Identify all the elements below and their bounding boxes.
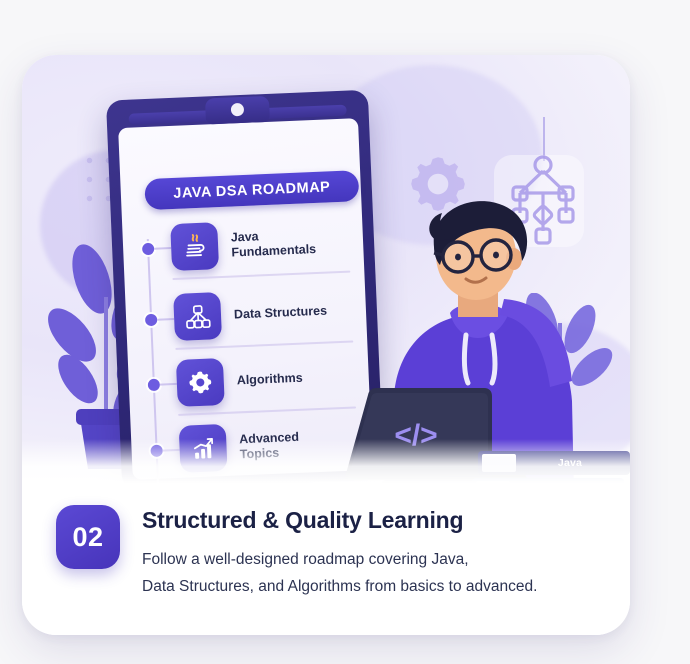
timeline-connector [157,318,174,321]
timeline-dot [148,379,160,391]
roadmap-step-label: Data Structures [234,304,328,323]
roadmap-step-java-fundamentals[interactable]: Java Fundamentals [170,218,328,271]
page-title: Structured & Quality Learning [142,507,537,534]
feature-text-panel: 02 Structured & Quality Learning Follow … [22,483,630,635]
panel-copy: Structured & Quality Learning Follow a w… [142,505,537,635]
timeline-connector [160,383,177,386]
illustration-fade [22,439,630,483]
illustration-region: JAVA DSA ROADMAP [22,55,630,483]
step-divider [172,271,350,280]
feature-card: JAVA DSA ROADMAP [22,55,630,635]
step-number-badge: 02 [56,505,120,569]
roadmap-step-algorithms[interactable]: Algorithms [176,355,304,407]
clipboard-clip [205,96,270,125]
step-divider [175,341,353,350]
description-line-2: Data Structures, and Algorithms from bas… [142,578,537,595]
gear-icon [176,358,225,407]
timeline-connector [154,247,171,250]
timeline-dot [145,314,157,326]
java-cup-icon [170,222,219,271]
roadmap-title-badge: JAVA DSA ROADMAP [144,170,359,210]
panel-description: Follow a well-designed roadmap covering … [142,546,537,600]
roadmap-step-label: Algorithms [236,371,303,389]
roadmap-step-label: Java Fundamentals [230,226,327,259]
tree-nodes-icon [173,292,222,341]
roadmap-title-text: JAVA DSA ROADMAP [173,179,331,202]
roadmap-step-data-structures[interactable]: Data Structures [173,288,328,341]
clipboard-clip-hole [231,103,245,117]
timeline-dot [142,243,154,255]
description-line-1: Follow a well-designed roadmap covering … [142,551,469,568]
